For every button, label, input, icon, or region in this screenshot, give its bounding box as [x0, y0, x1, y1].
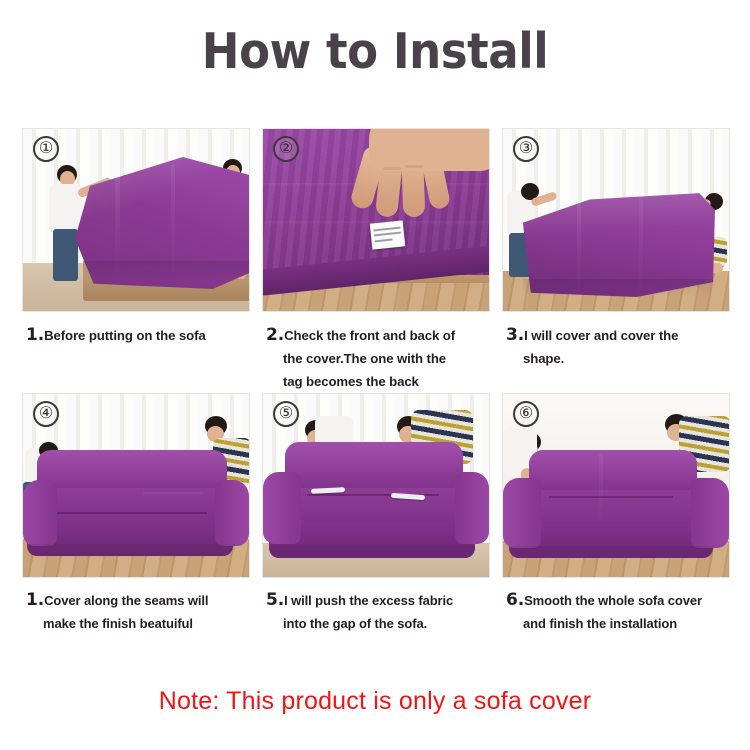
sofa-shadow: [511, 546, 713, 560]
person-jeans: [53, 229, 78, 281]
sofa-arm-left: [263, 472, 301, 544]
step-number-4: 1.: [26, 590, 44, 610]
how-to-install-infographic: How to Install: [0, 0, 750, 750]
step-photo-4: ④: [22, 393, 250, 578]
sofa-arm-right: [455, 472, 489, 544]
page-title: How to Install: [30, 24, 720, 80]
step-number-6: 6.: [506, 590, 524, 610]
step-photo-3: ③: [502, 128, 730, 312]
step-number-3: 3.: [506, 325, 524, 345]
cushion-seam: [549, 496, 673, 498]
step-caption-5: 5.I will push the excess fabric into the…: [262, 578, 490, 635]
step-caption-line1-1: Before putting on the sofa: [44, 328, 206, 343]
step-caption-line2-6: and finish the installation: [506, 612, 728, 635]
hand-palm: [369, 128, 490, 171]
scene-1: [23, 129, 249, 311]
step-caption-4: 1.Cover along the seams will make the fi…: [22, 578, 250, 635]
sofa-arm-left: [503, 478, 541, 548]
sofa-shadow: [29, 544, 235, 560]
step-cell-1: ① 1.Before putting on the sofa: [22, 128, 250, 393]
steps-grid: ① 1.Before putting on the sofa: [22, 128, 730, 635]
step-number-1: 1.: [26, 325, 44, 345]
step-caption-line1-4: Cover along the seams will: [44, 593, 208, 608]
cover-fold: [143, 492, 203, 496]
step-number-5: 5.: [266, 590, 284, 610]
step-caption-1: 1.Before putting on the sofa: [22, 312, 250, 347]
step-caption-line2-2: the cover.The one with the: [266, 347, 488, 370]
step-caption-6: 6.Smooth the whole sofa cover and finish…: [502, 578, 730, 635]
step-cell-5: ⑤ 5.I will push the excess fabric into t…: [262, 393, 490, 635]
step-cell-3: ③ 3.I will cover and cover the shape.: [502, 128, 730, 393]
step-photo-2: ②: [262, 128, 490, 312]
step-caption-line2-4: make the finish beatuiful: [26, 612, 248, 635]
scene-6: [503, 394, 729, 577]
step-caption-2: 2.Check the front and back of the cover.…: [262, 312, 490, 393]
scene-4: [23, 394, 249, 577]
step-badge-6: ⑥: [513, 401, 539, 427]
step-cell-4: ④ 1.Cover along the seams will make the …: [22, 393, 250, 635]
knuckle-crease: [383, 167, 401, 170]
step-number-2: 2.: [266, 325, 284, 345]
step-badge-4: ④: [33, 401, 59, 427]
footer-note: Note: This product is only a sofa cover: [0, 685, 750, 717]
step-badge-3: ③: [513, 136, 539, 162]
step-badge-5: ⑤: [273, 401, 299, 427]
scene-2: [263, 129, 489, 311]
scene-3: [503, 129, 729, 311]
sofa-arm-left: [23, 480, 57, 546]
cover-shadow: [523, 279, 711, 297]
step-photo-6: ⑥: [502, 393, 730, 578]
knuckle-crease: [405, 165, 423, 168]
step-cell-6: ⑥ 6.Smooth the whole sofa cover and fini…: [502, 393, 730, 635]
step-caption-line1-6: Smooth the whole sofa cover: [524, 593, 702, 608]
step-caption-3: 3.I will cover and cover the shape.: [502, 312, 730, 370]
step-caption-line3-2: tag becomes the back: [266, 370, 488, 393]
hand: [359, 128, 490, 245]
sofa-shadow: [271, 546, 475, 560]
cover-fold: [599, 454, 603, 524]
step-caption-line2-5: into the gap of the sofa.: [266, 612, 488, 635]
cushion-seam: [57, 512, 207, 514]
step-caption-line1-3: I will cover and cover the: [524, 328, 678, 343]
step-caption-line2-3: shape.: [506, 347, 728, 370]
scene-5: [263, 394, 489, 577]
step-badge-2: ②: [273, 136, 299, 162]
sofa-arm-right: [215, 480, 249, 546]
step-photo-1: ①: [22, 128, 250, 312]
step-photo-5: ⑤: [262, 393, 490, 578]
sofa-backrest: [285, 442, 463, 490]
step-badge-1: ①: [33, 136, 59, 162]
step-cell-2: ② 2.Check the front and back of the cove…: [262, 128, 490, 393]
step-caption-line1-5: I will push the excess fabric: [284, 593, 453, 608]
sofa-backrest: [529, 450, 697, 494]
sofa-arm-right: [691, 478, 729, 548]
cloth-shadow: [83, 261, 250, 281]
step-caption-line1-2: Check the front and back of: [284, 328, 455, 343]
